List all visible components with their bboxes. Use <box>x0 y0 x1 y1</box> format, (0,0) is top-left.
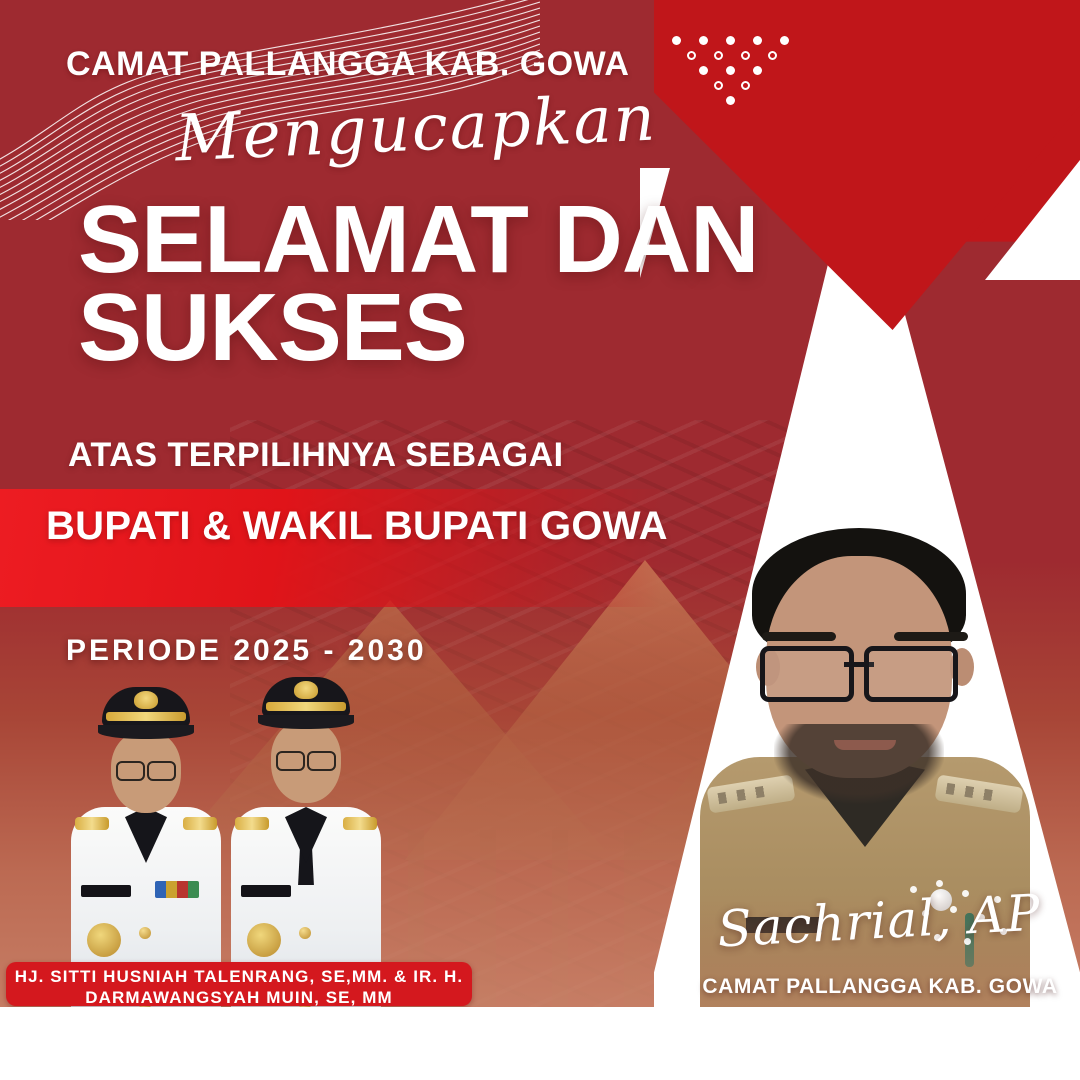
camat-signature-title: CAMAT PALLANGGA KAB. GOWA <box>690 975 1070 999</box>
officials-photo <box>48 660 408 1007</box>
header-office-label: CAMAT PALLANGGA KAB. GOWA <box>66 45 629 84</box>
male-cap-visor <box>258 715 354 729</box>
female-peaked-cap <box>102 687 190 727</box>
footer-bar: bomwaktu.com <box>0 1007 1080 1080</box>
headline-block: SELAMAT DAN SUKSES <box>78 196 759 373</box>
cap-emblem-icon <box>134 691 158 709</box>
camat-beard <box>774 724 944 804</box>
dot-pattern-decoration <box>672 28 792 106</box>
male-peaked-cap <box>262 677 350 717</box>
congratulations-poster: CAMAT PALLANGGA KAB. GOWA Mengucapkan SE… <box>0 0 1080 1080</box>
camat-eyebrow-left <box>762 632 836 641</box>
male-lapel <box>285 807 327 863</box>
official-male-figure <box>226 677 386 1007</box>
female-service-ribbons <box>155 881 199 898</box>
camat-eyebrow-right <box>894 632 968 641</box>
female-glasses-icon <box>116 761 176 777</box>
female-cap-visor <box>98 725 194 739</box>
camat-mouth <box>834 740 896 750</box>
male-medal <box>247 923 281 957</box>
female-medal <box>87 923 121 957</box>
female-shoulder-board-right <box>183 817 217 830</box>
female-lapel <box>125 807 167 863</box>
official-female-figure <box>70 687 222 1007</box>
male-glasses-icon <box>276 751 336 767</box>
cap-emblem-icon-male <box>294 681 318 699</box>
male-shoulder-board-right <box>343 817 377 830</box>
position-title-text: BUPATI & WAKIL BUPATI GOWA <box>46 504 668 549</box>
male-shoulder-board-left <box>235 817 269 830</box>
officials-names-text: HJ. SITTI HUSNIAH TALENRANG, SE,MM. & IR… <box>6 966 472 1007</box>
poster-artwork: CAMAT PALLANGGA KAB. GOWA Mengucapkan SE… <box>0 0 1080 1007</box>
female-name-tag <box>81 885 131 897</box>
headline-line-2: SUKSES <box>78 284 759 372</box>
camat-glasses-icon <box>760 646 958 692</box>
male-name-tag <box>241 885 291 897</box>
subtitle-text: ATAS TERPILIHNYA SEBAGAI <box>68 436 564 475</box>
female-shoulder-board-left <box>75 817 109 830</box>
